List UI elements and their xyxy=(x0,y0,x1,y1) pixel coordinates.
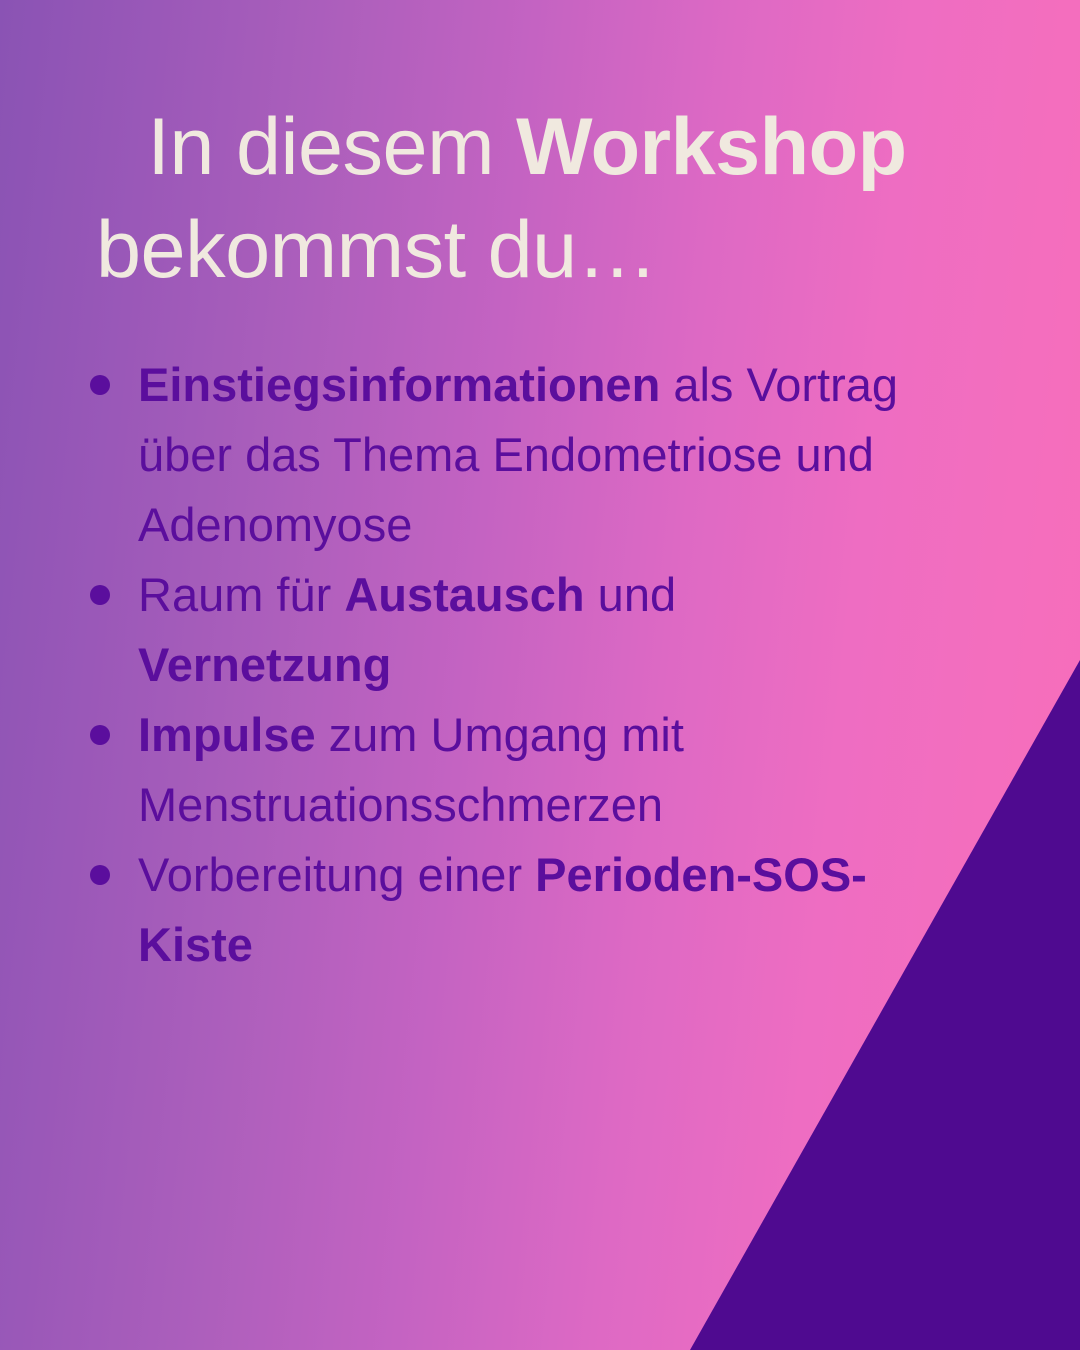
card-content: In diesem Workshop bekommst du… Einstieg… xyxy=(0,0,1080,1350)
emphasis-run: Impulse xyxy=(138,708,316,761)
page-title-emphasis: Workshop xyxy=(516,102,907,192)
list-item: Impulse zum Umgang mit Menstruationsschm… xyxy=(72,700,932,840)
bullet-dot-icon xyxy=(90,375,110,395)
list-item: Raum für Austausch und Vernetzung xyxy=(72,560,932,700)
text-run: Raum für xyxy=(138,568,344,621)
emphasis-run: Vernetzung xyxy=(138,638,391,691)
list-item-text: Einstiegsinformationen als Vortrag über … xyxy=(138,350,932,560)
list-item-text: Impulse zum Umgang mit Menstruationsschm… xyxy=(138,700,932,840)
page-title-line-1: In diesem Workshop xyxy=(72,96,1012,199)
bullet-dot-icon xyxy=(90,865,110,885)
list-item: Vorbereitung einer Perioden-SOS-Kiste xyxy=(72,840,932,980)
page-title-line-2: bekommst du… xyxy=(72,199,1012,302)
emphasis-run: Austausch xyxy=(344,568,584,621)
workshop-info-card: In diesem Workshop bekommst du… Einstieg… xyxy=(0,0,1080,1350)
list-item-text: Vorbereitung einer Perioden-SOS-Kiste xyxy=(138,840,932,980)
page-title: In diesem Workshop bekommst du… xyxy=(72,96,1012,302)
workshop-benefits-list: Einstiegsinformationen als Vortrag über … xyxy=(72,350,932,980)
list-item: Einstiegsinformationen als Vortrag über … xyxy=(72,350,932,560)
text-run: und xyxy=(585,568,676,621)
bullet-dot-icon xyxy=(90,585,110,605)
page-title-plain: In diesem xyxy=(147,102,516,192)
emphasis-run: Einstiegsinformationen xyxy=(138,358,660,411)
list-item-text: Raum für Austausch und Vernetzung xyxy=(138,560,932,700)
bullet-dot-icon xyxy=(90,725,110,745)
text-run: Vorbereitung einer xyxy=(138,848,535,901)
